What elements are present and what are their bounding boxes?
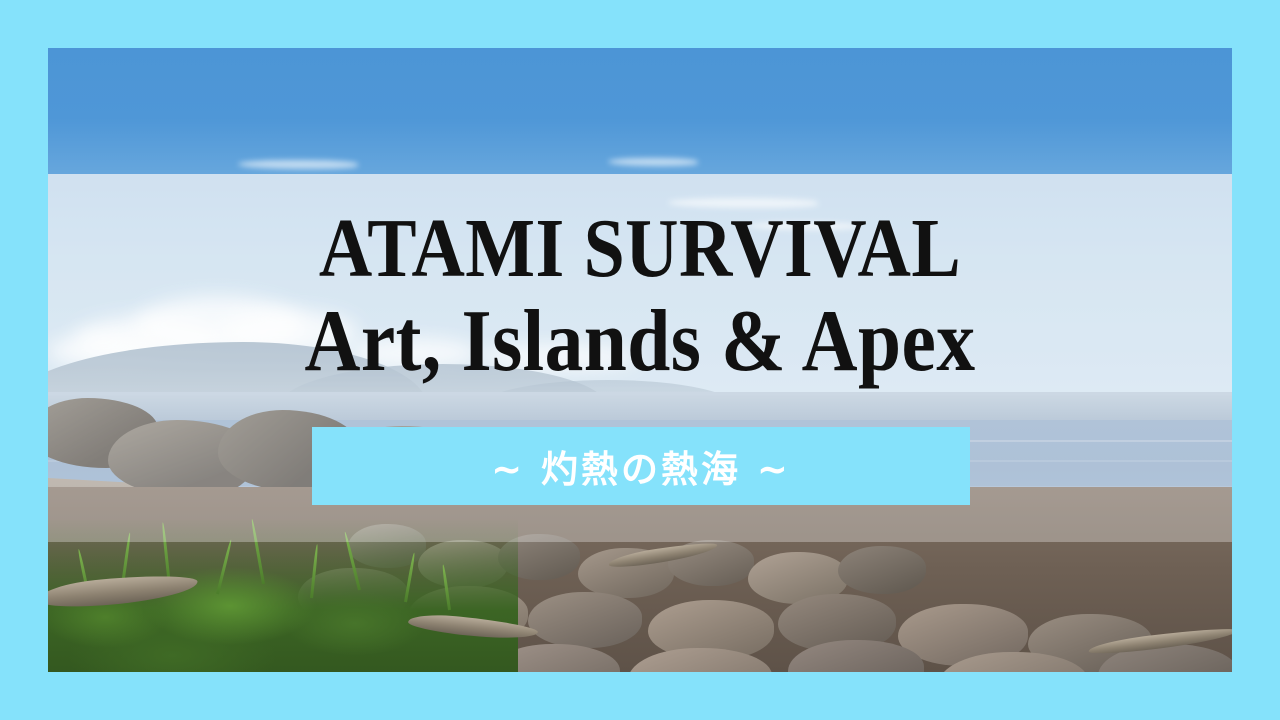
sky-upper [48, 48, 1232, 176]
thumbnail-canvas: ATAMI SURVIVAL Art, Islands & Apex ~ 灼熱の… [0, 0, 1280, 720]
cobble-10 [528, 592, 642, 648]
subtitle-band: ~ 灼熱の熱海 ~ [312, 427, 970, 505]
sea-horizon-haze [48, 392, 1232, 422]
title-block: ATAMI SURVIVAL Art, Islands & Apex [0, 205, 1280, 388]
title-line-primary: ATAMI SURVIVAL [77, 205, 1203, 292]
title-line-secondary: Art, Islands & Apex [77, 296, 1203, 388]
subtitle-text: ~ 灼熱の熱海 ~ [491, 439, 791, 493]
cobble-7 [838, 546, 926, 594]
